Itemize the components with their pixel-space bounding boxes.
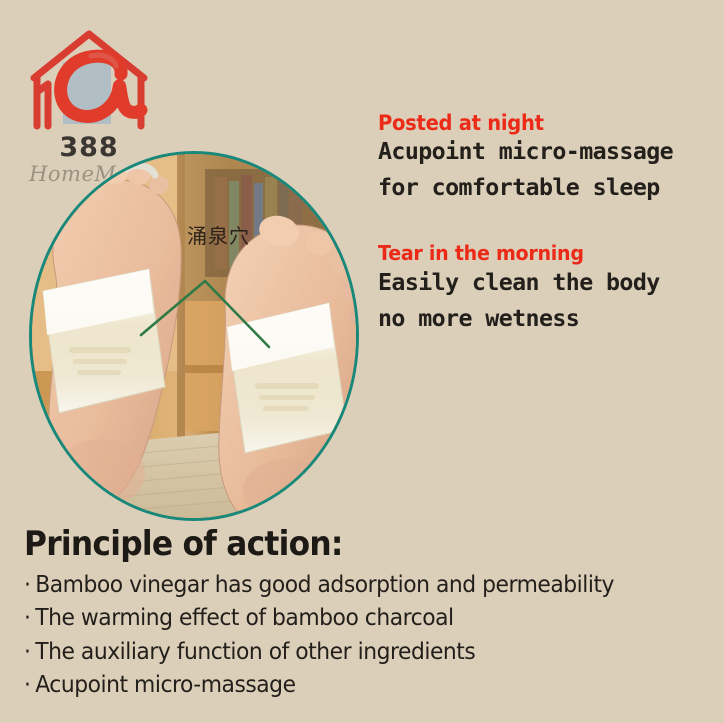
benefit-line-morning-1: Easily clean the body <box>378 265 711 301</box>
bullet-glyph: · <box>24 639 30 665</box>
bullet-glyph: · <box>24 572 30 598</box>
product-infographic-poster: 388 HomeMart <box>0 0 724 723</box>
feet-with-detox-patches-photo: 涌泉穴 <box>29 151 359 521</box>
benefit-line-night-1: Acupoint micro-massage <box>378 134 711 170</box>
bullet-glyph: · <box>24 672 30 698</box>
benefit-line-night-2: for comfortable sleep <box>378 170 711 206</box>
benefit-block-morning: Tear in the morning Easily clean the bod… <box>378 243 714 336</box>
benefits-column: Posted at night Acupoint micro-massage f… <box>378 112 714 336</box>
acupoint-label: 涌泉穴 <box>187 220 250 249</box>
list-item-text: The auxiliary function of other ingredie… <box>35 639 475 665</box>
list-item: ·Bamboo vinegar has good adsorption and … <box>24 569 680 602</box>
principle-title: Principle of action: <box>24 527 659 561</box>
list-item: ·The auxiliary function of other ingredi… <box>24 636 680 669</box>
benefit-block-night: Posted at night Acupoint micro-massage f… <box>378 112 714 205</box>
photo-illustration <box>29 151 359 521</box>
list-item: ·The warming effect of bamboo charcoal <box>24 602 680 635</box>
principle-section: Principle of action: ·Bamboo vinegar has… <box>24 527 714 702</box>
list-item-text: The warming effect of bamboo charcoal <box>35 605 453 631</box>
list-item: ·Acupoint micro-massage <box>24 669 680 702</box>
list-item-text: Bamboo vinegar has good adsorption and p… <box>35 572 614 598</box>
benefit-kicker-night: Posted at night <box>378 112 690 134</box>
benefit-kicker-morning: Tear in the morning <box>378 243 690 265</box>
house-logo-icon <box>28 26 150 134</box>
house-logo-svg <box>28 26 150 134</box>
principle-bullet-list: ·Bamboo vinegar has good adsorption and … <box>24 569 714 702</box>
benefit-line-morning-2: no more wetness <box>378 301 711 337</box>
list-item-text: Acupoint micro-massage <box>35 672 295 698</box>
bullet-glyph: · <box>24 605 30 631</box>
